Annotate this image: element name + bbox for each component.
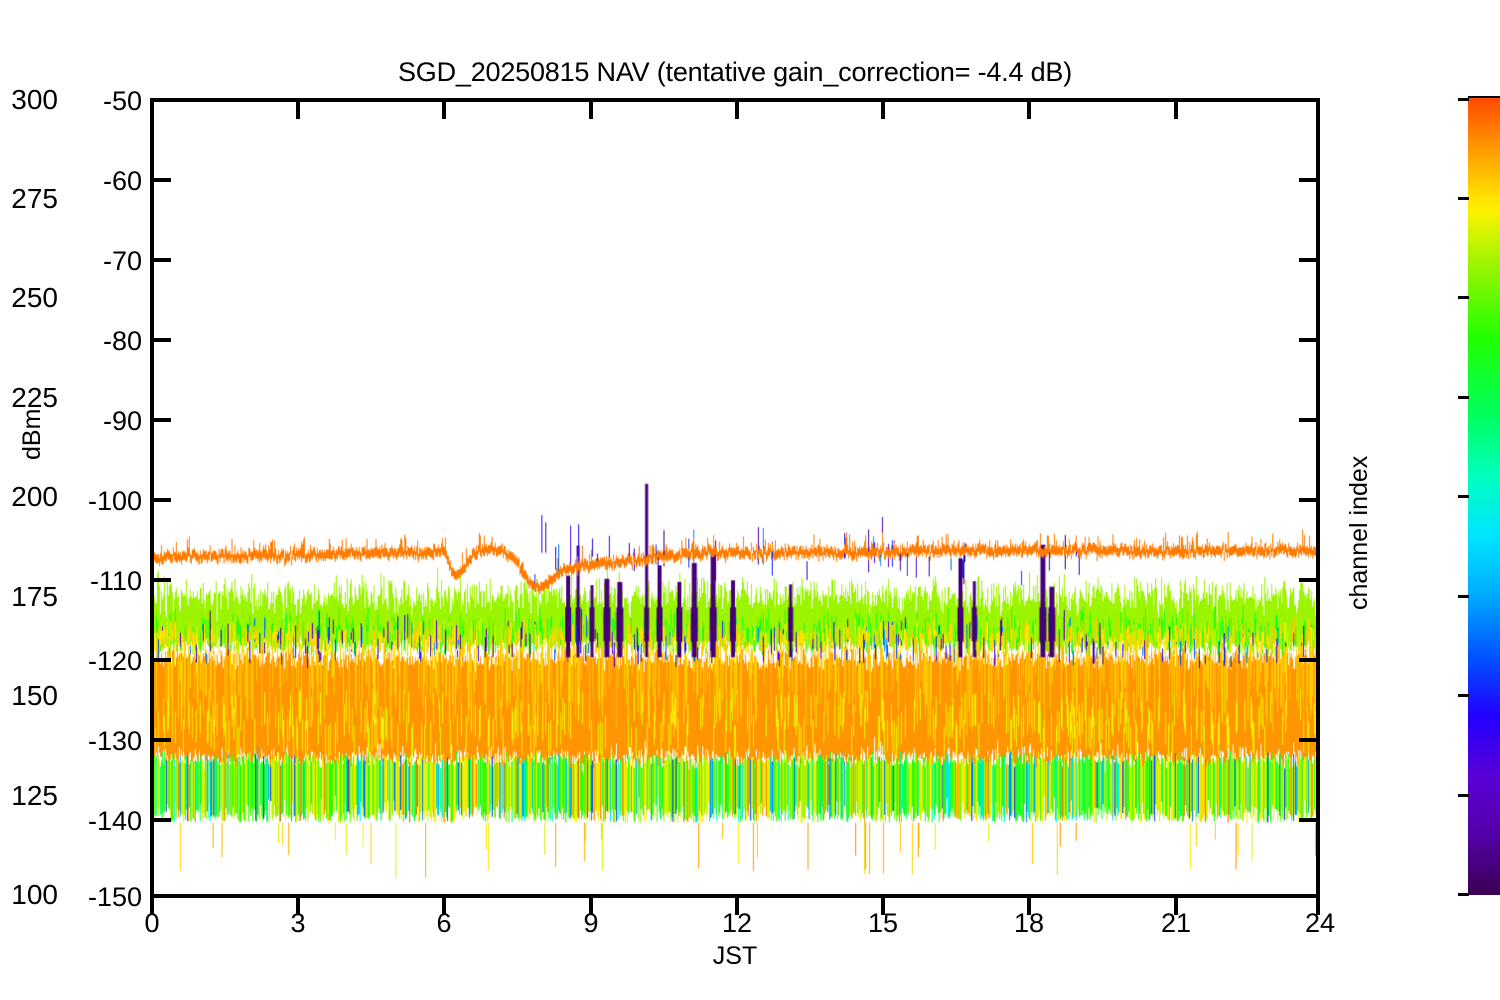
x-tick-mark-top: [150, 98, 154, 119]
y-tick-mark-right: [1299, 418, 1320, 422]
x-axis-title: JST: [150, 942, 1320, 971]
x-tick-mark-top: [881, 98, 885, 119]
y-tick-label: -50: [103, 86, 142, 117]
y-tick-mark: [150, 178, 171, 182]
y-tick-label: -60: [103, 166, 142, 197]
colorbar-tick-mark: [1458, 396, 1469, 399]
y-axis-title: dBm: [18, 409, 47, 460]
x-tick-label: 3: [258, 908, 338, 939]
x-tick-mark-top: [296, 98, 300, 119]
y-tick-label: -70: [103, 246, 142, 277]
x-tick-label: 6: [404, 908, 484, 939]
x-tick-mark-top: [589, 98, 593, 119]
y-tick-label: -130: [88, 726, 142, 757]
colorbar-tick-mark: [1458, 595, 1469, 598]
y-tick-label: -140: [88, 806, 142, 837]
y-tick-label: -110: [90, 566, 142, 597]
colorbar-tick-label: 300: [11, 84, 58, 116]
colorbar-tick-label: 100: [11, 879, 58, 911]
y-tick-mark: [150, 578, 171, 582]
plot-axes: [150, 98, 1320, 898]
colorbar-tick-label: 175: [11, 581, 58, 613]
colorbar-tick-label: 275: [11, 183, 58, 215]
y-tick-mark: [150, 258, 171, 262]
y-tick-mark-right: [1299, 818, 1320, 822]
colorbar: [1468, 98, 1500, 895]
y-tick-mark-right: [1299, 738, 1320, 742]
x-tick-mark-top: [1027, 98, 1031, 119]
y-tick-label: -90: [103, 406, 142, 437]
x-tick-label: 24: [1280, 908, 1360, 939]
page-title: SGD_20250815 NAV (tentative gain_correct…: [150, 57, 1320, 88]
y-tick-mark-right: [1299, 658, 1320, 662]
y-tick-mark-right: [1299, 258, 1320, 262]
y-tick-mark-right: [1299, 338, 1320, 342]
colorbar-tick-mark: [1458, 296, 1469, 299]
colorbar-tick-mark: [1458, 495, 1469, 498]
y-tick-mark: [150, 818, 171, 822]
y-tick-mark: [150, 338, 171, 342]
colorbar-tick-label: 150: [11, 680, 58, 712]
y-tick-mark-right: [1299, 178, 1320, 182]
y-tick-label: -120: [88, 646, 142, 677]
colorbar-tick-label: 125: [11, 780, 58, 812]
y-tick-mark: [150, 418, 171, 422]
y-tick-mark: [150, 738, 171, 742]
colorbar-gradient: [1468, 98, 1500, 895]
x-tick-mark-top: [735, 98, 739, 119]
y-tick-mark: [150, 658, 171, 662]
x-tick-label: 21: [1136, 908, 1216, 939]
spectrum-plot-canvas: [154, 102, 1316, 894]
colorbar-tick-label: 200: [11, 481, 58, 513]
y-tick-mark-right: [1299, 498, 1320, 502]
figure-root: SGD_20250815 NAV (tentative gain_correct…: [0, 0, 1500, 1000]
x-tick-label: 15: [843, 908, 923, 939]
x-tick-mark-top: [1316, 98, 1320, 119]
x-tick-label: 9: [551, 908, 631, 939]
x-tick-mark-top: [1174, 98, 1178, 119]
y-tick-label: -100: [88, 486, 142, 517]
colorbar-tick-mark: [1458, 197, 1469, 200]
x-tick-label: 0: [112, 908, 192, 939]
colorbar-axis-title: channel index: [1345, 456, 1374, 610]
colorbar-tick-mark: [1458, 694, 1469, 697]
y-tick-mark-right: [1299, 578, 1320, 582]
x-tick-label: 18: [989, 908, 1069, 939]
x-tick-label: 12: [697, 908, 777, 939]
colorbar-tick-mark: [1458, 794, 1469, 797]
colorbar-tick-label: 225: [11, 382, 58, 414]
y-tick-mark: [150, 498, 171, 502]
x-tick-mark-top: [442, 98, 446, 119]
colorbar-tick-mark: [1458, 893, 1469, 896]
colorbar-tick-mark: [1458, 98, 1469, 101]
colorbar-tick-label: 250: [11, 282, 58, 314]
y-tick-label: -80: [103, 326, 142, 357]
